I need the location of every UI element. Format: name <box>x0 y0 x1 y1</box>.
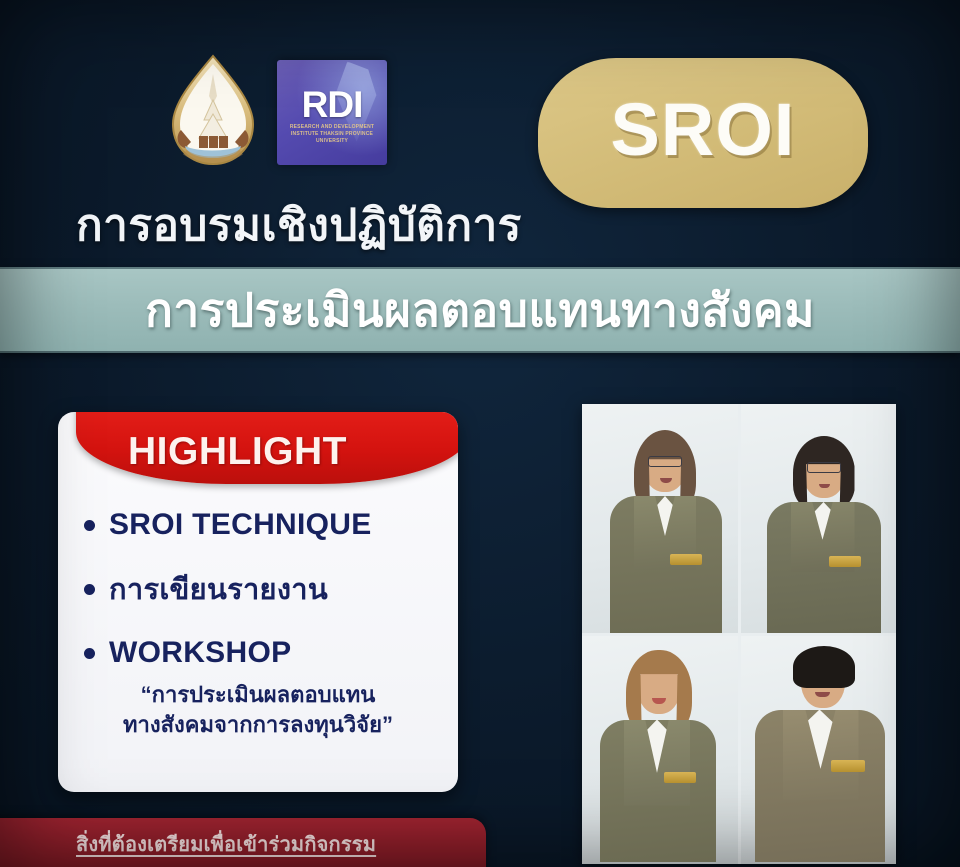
rdi-wordmark: RDI <box>302 87 363 122</box>
preparation-panel: สิ่งที่ต้องเตรียมเพื่อเข้าร่วมกิจกรรม 1.… <box>0 818 486 867</box>
mouth-shape <box>819 484 830 488</box>
speaker-photo-grid <box>582 404 896 864</box>
speech-bubble-tail <box>626 186 682 250</box>
hair-shape <box>793 646 855 688</box>
bullet-dot-icon <box>84 520 95 531</box>
name-badge <box>670 554 702 565</box>
main-heading: การอบรมเชิงปฏิบัติการ <box>76 190 522 260</box>
bullet-label: SROI TECHNIQUE <box>109 508 372 542</box>
highlight-banner: HIGHLIGHT <box>76 412 458 484</box>
bullet-dot-icon <box>84 648 95 659</box>
banner-band: การประเมินผลตอบแทนทางสังคม <box>0 267 960 353</box>
bullet-label: การเขียนรายงาน <box>109 566 328 612</box>
name-badge <box>664 772 696 783</box>
poster-canvas: RDI RESEARCH AND DEVELOPMENT INSTITUTE T… <box>0 0 960 867</box>
banner-title: การประเมินผลตอบแทนทางสังคม <box>145 274 815 347</box>
sroi-label: SROI <box>611 93 796 167</box>
speaker-photo-3 <box>582 636 738 865</box>
preparation-title: สิ่งที่ต้องเตรียมเพื่อเข้าร่วมกิจกรรม <box>76 828 486 860</box>
name-badge <box>831 760 865 772</box>
quote-line-1: “การประเมินผลตอบแทน <box>78 680 438 710</box>
rdi-logo: RDI RESEARCH AND DEVELOPMENT INSTITUTE T… <box>277 60 387 165</box>
rdi-subtext: RESEARCH AND DEVELOPMENT INSTITUTE THAKS… <box>286 124 378 144</box>
mouth-shape <box>815 692 830 697</box>
highlight-card: HIGHLIGHT SROI TECHNIQUE การเขียนรายงาน … <box>58 412 458 792</box>
name-badge <box>829 556 861 567</box>
list-item: SROI TECHNIQUE <box>84 508 444 542</box>
list-item: การเขียนรายงาน <box>84 566 444 612</box>
highlight-bullet-list: SROI TECHNIQUE การเขียนรายงาน WORKSHOP <box>84 508 444 694</box>
highlight-quote: “การประเมินผลตอบแทน ทางสังคมจากการลงทุนว… <box>78 680 438 741</box>
speaker-photo-4 <box>741 636 897 865</box>
speaker-photo-1 <box>582 404 738 633</box>
logo-row: RDI RESEARCH AND DEVELOPMENT INSTITUTE T… <box>165 52 387 172</box>
glasses-icon <box>648 456 682 467</box>
university-seal-icon <box>165 52 261 172</box>
sroi-speech-bubble: SROI <box>538 58 868 208</box>
quote-line-2: ทางสังคมจากการลงทุนวิจัย” <box>78 710 438 740</box>
list-item: WORKSHOP <box>84 636 444 670</box>
speaker-photo-2 <box>741 404 897 633</box>
glasses-icon <box>807 462 841 473</box>
bullet-dot-icon <box>84 584 95 595</box>
highlight-banner-label: HIGHLIGHT <box>128 430 347 474</box>
bullet-label: WORKSHOP <box>109 636 291 670</box>
